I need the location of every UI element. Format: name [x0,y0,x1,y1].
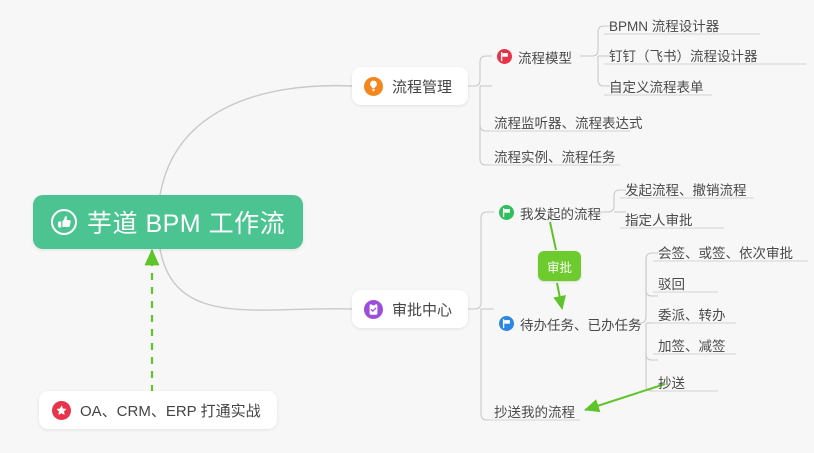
leaf-my-initiated-processes[interactable]: 我发起的流程 [494,197,607,224]
leaf-label: 自定义流程表单 [609,80,704,95]
leaf-label: 抄送 [658,376,685,391]
leaf-cc-to-me[interactable]: 抄送我的流程 [489,395,581,422]
star-icon [52,401,71,420]
branch-label: 审批中心 [392,299,452,320]
leaf-label: 指定人审批 [625,213,693,228]
integration-card-label: OA、CRM、ERP 打通实战 [80,400,261,421]
mindmap-canvas: 芋道 BPM 工作流 流程管理 流程模型 BPMN 流程设计器 钉钉（飞书）流程 [0,0,814,453]
approval-flow-arrow [550,222,556,250]
leaf-label: 委派、转办 [658,308,726,323]
branch-process-management[interactable]: 流程管理 [352,67,468,105]
leaf-label: 流程实例、流程任务 [494,150,616,165]
leaf-instance-task[interactable]: 流程实例、流程任务 [489,140,622,167]
leaf-label: 流程监听器、流程表达式 [494,116,643,131]
leaf-label: 待办任务、已办任务 [520,318,642,333]
lightbulb-icon [364,77,383,96]
leaf-label: 发起流程、撤销流程 [625,183,747,198]
leaf-countersign[interactable]: 会签、或签、依次审批 [653,236,799,263]
leaf-label: 我发起的流程 [520,207,601,222]
leaf-label: 会签、或签、依次审批 [658,246,793,261]
integration-card[interactable]: OA、CRM、ERP 打通实战 [39,391,277,429]
leaf-reject[interactable]: 驳回 [653,267,691,294]
leaf-todo-done-tasks[interactable]: 待办任务、已办任务 [494,308,648,335]
leaf-label: 驳回 [658,277,685,292]
approval-tag-label: 审批 [547,257,572,276]
thumbs-up-icon [51,209,77,235]
leaf-assignee-approval[interactable]: 指定人审批 [620,203,699,230]
branch-label: 流程管理 [392,76,452,97]
approval-tag: 审批 [538,251,581,281]
leaf-cc[interactable]: 抄送 [653,366,691,393]
leaf-bpmn-designer[interactable]: BPMN 流程设计器 [604,9,725,36]
leaf-label: 加签、减签 [658,339,726,354]
leaf-label: 抄送我的流程 [494,405,575,420]
leaf-dingtalk-designer[interactable]: 钉钉（飞书）流程设计器 [604,39,764,66]
clipboard-icon [364,300,383,319]
leaf-delegate-transfer[interactable]: 委派、转办 [653,298,732,325]
leaf-label: BPMN 流程设计器 [609,19,719,34]
leaf-add-remove-sign[interactable]: 加签、减签 [653,329,732,356]
root-label: 芋道 BPM 工作流 [87,204,285,240]
leaf-label: 流程模型 [518,51,572,66]
flag-icon [499,205,514,222]
leaf-start-cancel-process[interactable]: 发起流程、撤销流程 [620,173,753,200]
leaf-custom-form[interactable]: 自定义流程表单 [604,70,710,97]
branch-approval-center[interactable]: 审批中心 [352,290,468,328]
leaf-listener-expression[interactable]: 流程监听器、流程表达式 [489,106,649,133]
leaf-label: 钉钉（飞书）流程设计器 [609,49,758,64]
flag-icon [499,316,514,333]
leaf-process-model[interactable]: 流程模型 [492,41,578,68]
root-node[interactable]: 芋道 BPM 工作流 [33,195,303,249]
flag-icon [497,49,512,66]
